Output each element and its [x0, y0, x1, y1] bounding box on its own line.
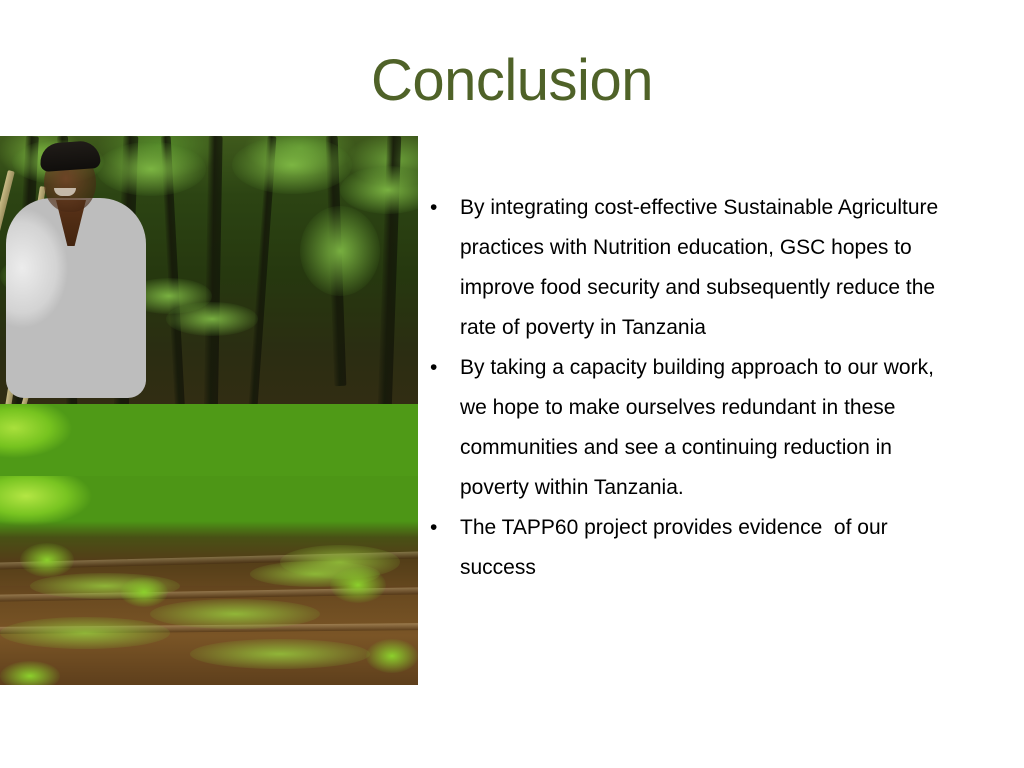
list-item: • By integrating cost-effective Sustaina…: [430, 188, 950, 348]
bullet-dot-icon: •: [430, 348, 460, 388]
moss-patch: [190, 639, 370, 669]
bullet-text: By taking a capacity building approach t…: [460, 348, 950, 508]
bullet-text: The TAPP60 project provides evidence of …: [460, 508, 950, 588]
slide-photo: [0, 136, 418, 685]
moss-patch: [0, 617, 170, 649]
small-plant: [20, 543, 74, 577]
small-plant: [366, 639, 418, 673]
palm-frond: [96, 142, 206, 196]
palm-frond: [232, 136, 352, 194]
small-plant: [330, 567, 386, 603]
palm-frond: [300, 206, 380, 296]
small-plant: [120, 577, 168, 607]
list-item: • By taking a capacity building approach…: [430, 348, 950, 508]
bullet-dot-icon: •: [430, 508, 460, 548]
palm-frond: [166, 302, 258, 336]
small-plant: [0, 661, 60, 685]
palm-frond: [340, 166, 418, 214]
bullet-list: • By integrating cost-effective Sustaina…: [430, 188, 950, 588]
earth-terrace-bank: [0, 521, 418, 685]
moss-patch: [150, 599, 320, 629]
page-title: Conclusion: [0, 46, 1024, 116]
presentation-slide: Conclusion: [0, 0, 1024, 768]
list-item: • The TAPP60 project provides evidence o…: [430, 508, 950, 588]
bullet-dot-icon: •: [430, 188, 460, 228]
bullet-text: By integrating cost-effective Sustainabl…: [460, 188, 950, 348]
